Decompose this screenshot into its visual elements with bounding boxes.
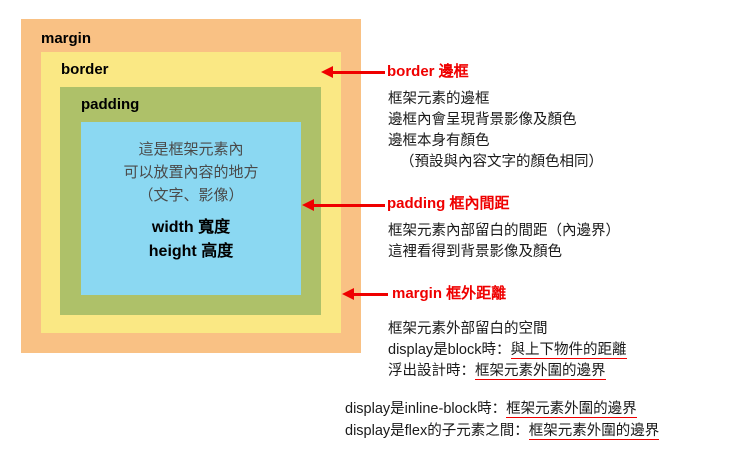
padding-box-label: padding — [81, 97, 139, 112]
annotation-line: 邊框內會呈現背景影像及顏色 — [388, 110, 603, 131]
annotation-line-emphasis: 框架元素外圍的邊界 — [506, 401, 637, 418]
margin-box-label: margin — [41, 31, 91, 46]
annotation-line: 框架元素內部留白的間距（內邊界） — [388, 221, 620, 242]
box-model-diagram: margin border padding 這是框架元素內 可以放置內容的地方 … — [21, 19, 361, 353]
content-text-line: 可以放置內容的地方 — [123, 161, 258, 184]
annotation-line-prefix: display是block時： — [388, 342, 511, 358]
padding-annotation-heading: padding 框內間距 — [387, 196, 510, 211]
content-box: 這是框架元素內 可以放置內容的地方 （文字、影像） width 寬度 heigh… — [81, 122, 301, 295]
annotation-line: （預設與內容文字的顏色相同） — [388, 152, 603, 173]
border-callout-arrow — [321, 66, 385, 78]
arrow-shaft — [352, 293, 388, 296]
annotation-line-underlined: display是inline-block時：框架元素外圍的邊界 — [345, 398, 659, 420]
annotation-line-emphasis: 框架元素外圍的邊界 — [475, 363, 606, 380]
annotation-line-underlined: display是block時：與上下物件的距離 — [388, 340, 627, 361]
border-box: border padding 這是框架元素內 可以放置內容的地方 （文字、影像）… — [41, 52, 341, 333]
annotation-line-prefix: display是inline-block時： — [345, 401, 506, 417]
margin-callout-arrow — [342, 288, 388, 300]
border-annotation-heading: border 邊框 — [387, 64, 469, 79]
annotation-line-underlined: 浮出設計時：框架元素外圍的邊界 — [388, 361, 627, 382]
arrow-shaft — [312, 204, 385, 207]
content-height-label: height 高度 — [149, 240, 233, 264]
annotation-line-underlined: display是flex的子元素之間：框架元素外圍的邊界 — [345, 420, 659, 442]
padding-annotation-body: 框架元素內部留白的間距（內邊界） 這裡看得到背景影像及顏色 — [388, 221, 620, 263]
content-text-line: （文字、影像） — [138, 184, 243, 207]
annotation-line-emphasis: 與上下物件的距離 — [511, 342, 627, 359]
annotation-line: 邊框本身有顏色 — [388, 131, 603, 152]
annotation-line: 框架元素外部留白的空間 — [388, 319, 627, 340]
padding-box: padding 這是框架元素內 可以放置內容的地方 （文字、影像） width … — [60, 87, 321, 315]
content-text-line: 這是框架元素內 — [138, 138, 243, 161]
annotation-line: 這裡看得到背景影像及顏色 — [388, 242, 620, 263]
footer-note-block: display是inline-block時：框架元素外圍的邊界 display是… — [345, 398, 659, 442]
border-annotation-body: 框架元素的邊框 邊框內會呈現背景影像及顏色 邊框本身有顏色 （預設與內容文字的顏… — [388, 89, 603, 173]
margin-annotation-body: 框架元素外部留白的空間 display是block時：與上下物件的距離 浮出設計… — [388, 319, 627, 382]
annotation-line: 框架元素的邊框 — [388, 89, 603, 110]
annotation-line-emphasis: 框架元素外圍的邊界 — [529, 423, 660, 440]
annotation-line-prefix: display是flex的子元素之間： — [345, 423, 529, 439]
content-width-label: width 寬度 — [152, 216, 230, 240]
border-box-label: border — [61, 62, 109, 77]
annotation-line-prefix: 浮出設計時： — [388, 363, 475, 379]
padding-callout-arrow — [302, 199, 385, 211]
arrow-shaft — [331, 71, 385, 74]
margin-box: margin border padding 這是框架元素內 可以放置內容的地方 … — [21, 19, 361, 353]
margin-annotation-heading: margin 框外距離 — [392, 286, 506, 301]
